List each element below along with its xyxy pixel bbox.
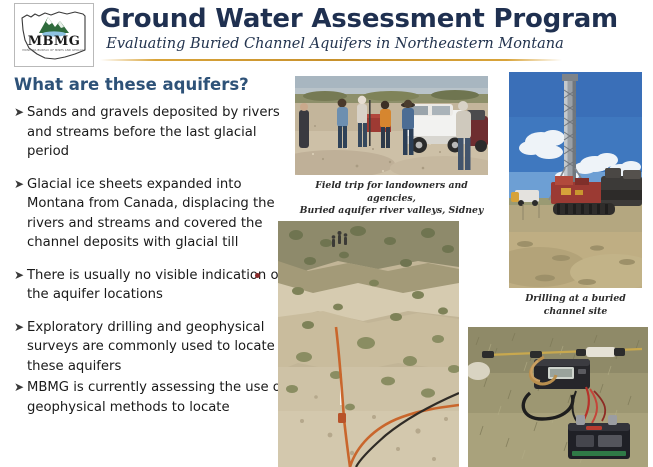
caption-line: channel site bbox=[509, 306, 642, 319]
field-trip-caption: Field trip for landowners and agencies, … bbox=[295, 180, 488, 218]
content-column: What are these aquifers? ➤ Sands and gra… bbox=[14, 74, 286, 419]
drill-rig-photo-image bbox=[509, 72, 642, 288]
bullet-arrow-icon: ➤ bbox=[14, 103, 24, 123]
bullet-text: MBMG is currently assessing the use of g… bbox=[27, 380, 286, 415]
bullet-text: Exploratory drilling and geophysical sur… bbox=[27, 320, 275, 374]
bullet-text: There is usually no visible indication o… bbox=[27, 268, 283, 303]
drill-rig-photo bbox=[509, 72, 642, 288]
bullet-arrow-icon: ➤ bbox=[14, 378, 24, 398]
bullet-item: ➤ There is usually no visible indication… bbox=[14, 266, 286, 305]
field-trip-photo-image bbox=[295, 76, 488, 175]
hillside-photo-image bbox=[278, 221, 459, 467]
drill-rig-caption: Drilling at a buried channel site bbox=[509, 293, 642, 318]
caption-line: Field trip for landowners and agencies, bbox=[295, 180, 488, 205]
bullet-item: ➤ Sands and gravels deposited by rivers … bbox=[14, 103, 286, 162]
title-divider bbox=[100, 59, 562, 61]
geophysical-equipment-photo bbox=[468, 327, 648, 467]
bullet-text: Sands and gravels deposited by rivers an… bbox=[27, 105, 280, 159]
geophysical-equipment-photo-image bbox=[468, 327, 648, 467]
annotation-dot bbox=[255, 273, 260, 278]
bullet-arrow-icon: ➤ bbox=[14, 175, 24, 195]
caption-line: Drilling at a buried bbox=[509, 293, 642, 306]
mbmg-logo: MBMG MONTANA BUREAU OF MINES AND GEOLOGY bbox=[14, 3, 94, 67]
svg-text:MONTANA BUREAU OF MINES AND GE: MONTANA BUREAU OF MINES AND GEOLOGY bbox=[22, 48, 86, 52]
bullet-item: ➤ Exploratory drilling and geophysical s… bbox=[14, 318, 286, 377]
title-block: Ground Water Assessment Program Evaluati… bbox=[100, 4, 570, 54]
caption-line: Buried aquifer river valleys, Sidney bbox=[295, 205, 488, 218]
bullet-item: ➤ Glacial ice sheets expanded into Monta… bbox=[14, 175, 286, 253]
mbmg-logo-icon: MBMG MONTANA BUREAU OF MINES AND GEOLOGY bbox=[15, 4, 93, 66]
bullet-text: Glacial ice sheets expanded into Montana… bbox=[27, 177, 275, 251]
svg-text:MBMG: MBMG bbox=[28, 34, 80, 49]
slide-canvas: MBMG MONTANA BUREAU OF MINES AND GEOLOGY… bbox=[0, 0, 653, 467]
page-title: Ground Water Assessment Program bbox=[100, 4, 570, 34]
bullet-item: ➤ MBMG is currently assessing the use of… bbox=[14, 378, 286, 417]
page-subtitle: Evaluating Buried Channel Aquifers in No… bbox=[100, 35, 570, 54]
field-trip-photo bbox=[295, 76, 488, 175]
slide-header: MBMG MONTANA BUREAU OF MINES AND GEOLOGY… bbox=[0, 0, 653, 66]
bullet-arrow-icon: ➤ bbox=[14, 266, 24, 286]
section-heading: What are these aquifers? bbox=[14, 74, 286, 96]
hillside-photo bbox=[278, 221, 459, 467]
bullet-arrow-icon: ➤ bbox=[14, 318, 24, 338]
